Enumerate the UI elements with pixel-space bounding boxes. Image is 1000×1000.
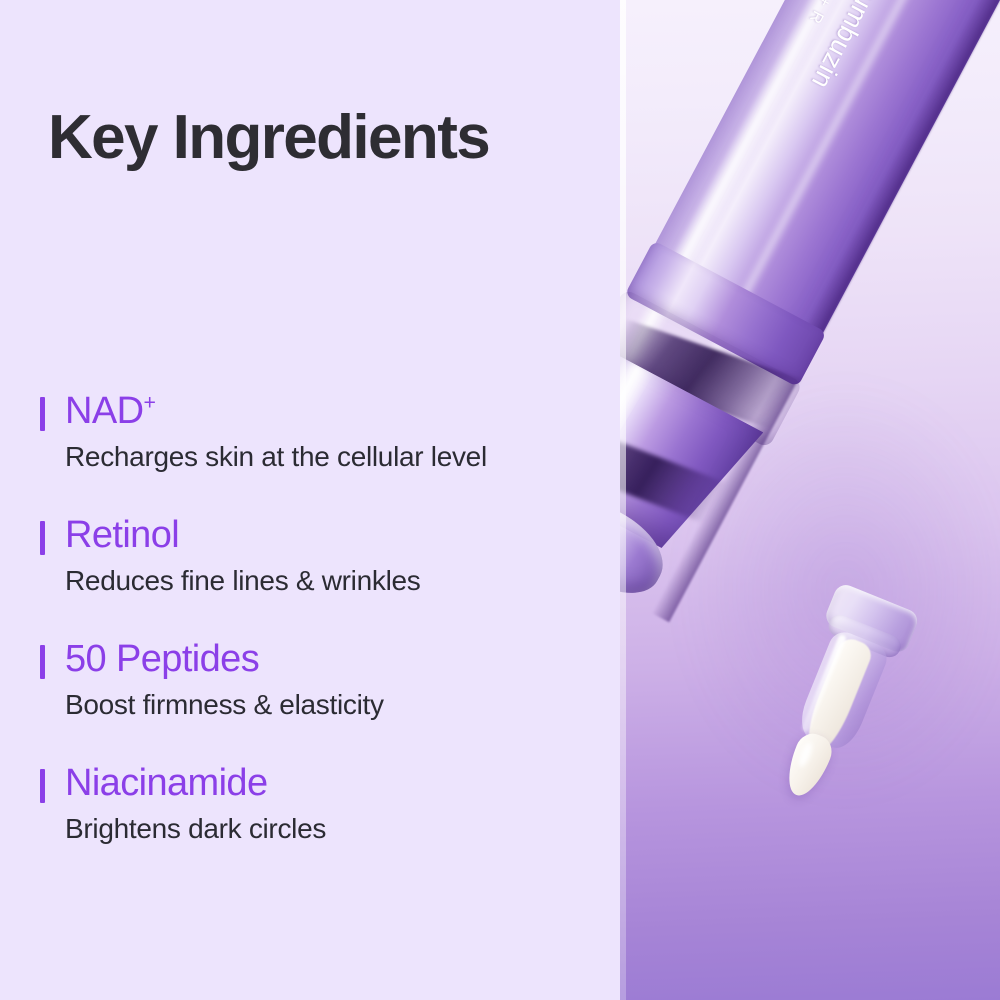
ingredient-name: Niacinamide	[65, 762, 600, 805]
serum-droplet	[779, 729, 836, 802]
ingredient-description: Reduces fine lines & wrinkles	[65, 564, 600, 598]
ingredient-item-retinol: Retinol Reduces fine lines & wrinkles	[40, 514, 600, 597]
dropper-tip	[757, 580, 925, 811]
infographic-canvas: Key Ingredients NAD+ Recharges skin at t…	[0, 0, 1000, 1000]
accent-bar-icon	[40, 397, 45, 431]
product-image: numbuzin NAD+ R	[620, 0, 1000, 1000]
ingredient-name: NAD+	[65, 390, 600, 433]
product-tube: numbuzin NAD+ R	[620, 0, 1000, 622]
content-panel: Key Ingredients NAD+ Recharges skin at t…	[0, 0, 620, 1000]
ingredient-description: Recharges skin at the cellular level	[65, 440, 600, 474]
ingredient-name: Retinol	[65, 514, 600, 557]
panel-divider	[620, 0, 626, 1000]
ingredient-description: Brightens dark circles	[65, 812, 600, 846]
ingredient-item-peptides: 50 Peptides Boost firmness & elasticity	[40, 638, 600, 721]
ingredient-name-text: NAD	[65, 390, 143, 432]
ingredient-description: Boost firmness & elasticity	[65, 688, 600, 722]
accent-bar-icon	[40, 521, 45, 555]
ingredient-name-text: Niacinamide	[65, 762, 268, 804]
ingredient-name-text: 50 Peptides	[65, 638, 259, 680]
accent-bar-icon	[40, 769, 45, 803]
product-photo-panel: numbuzin NAD+ R	[620, 0, 1000, 1000]
ingredient-superscript: +	[143, 390, 155, 414]
accent-bar-icon	[40, 645, 45, 679]
ingredient-name: 50 Peptides	[65, 638, 600, 681]
ingredient-item-nad: NAD+ Recharges skin at the cellular leve…	[40, 390, 600, 473]
page-title: Key Ingredients	[48, 107, 489, 169]
ingredient-item-niacinamide: Niacinamide Brightens dark circles	[40, 762, 600, 845]
ingredient-name-text: Retinol	[65, 514, 179, 556]
ingredient-list: NAD+ Recharges skin at the cellular leve…	[40, 390, 600, 846]
